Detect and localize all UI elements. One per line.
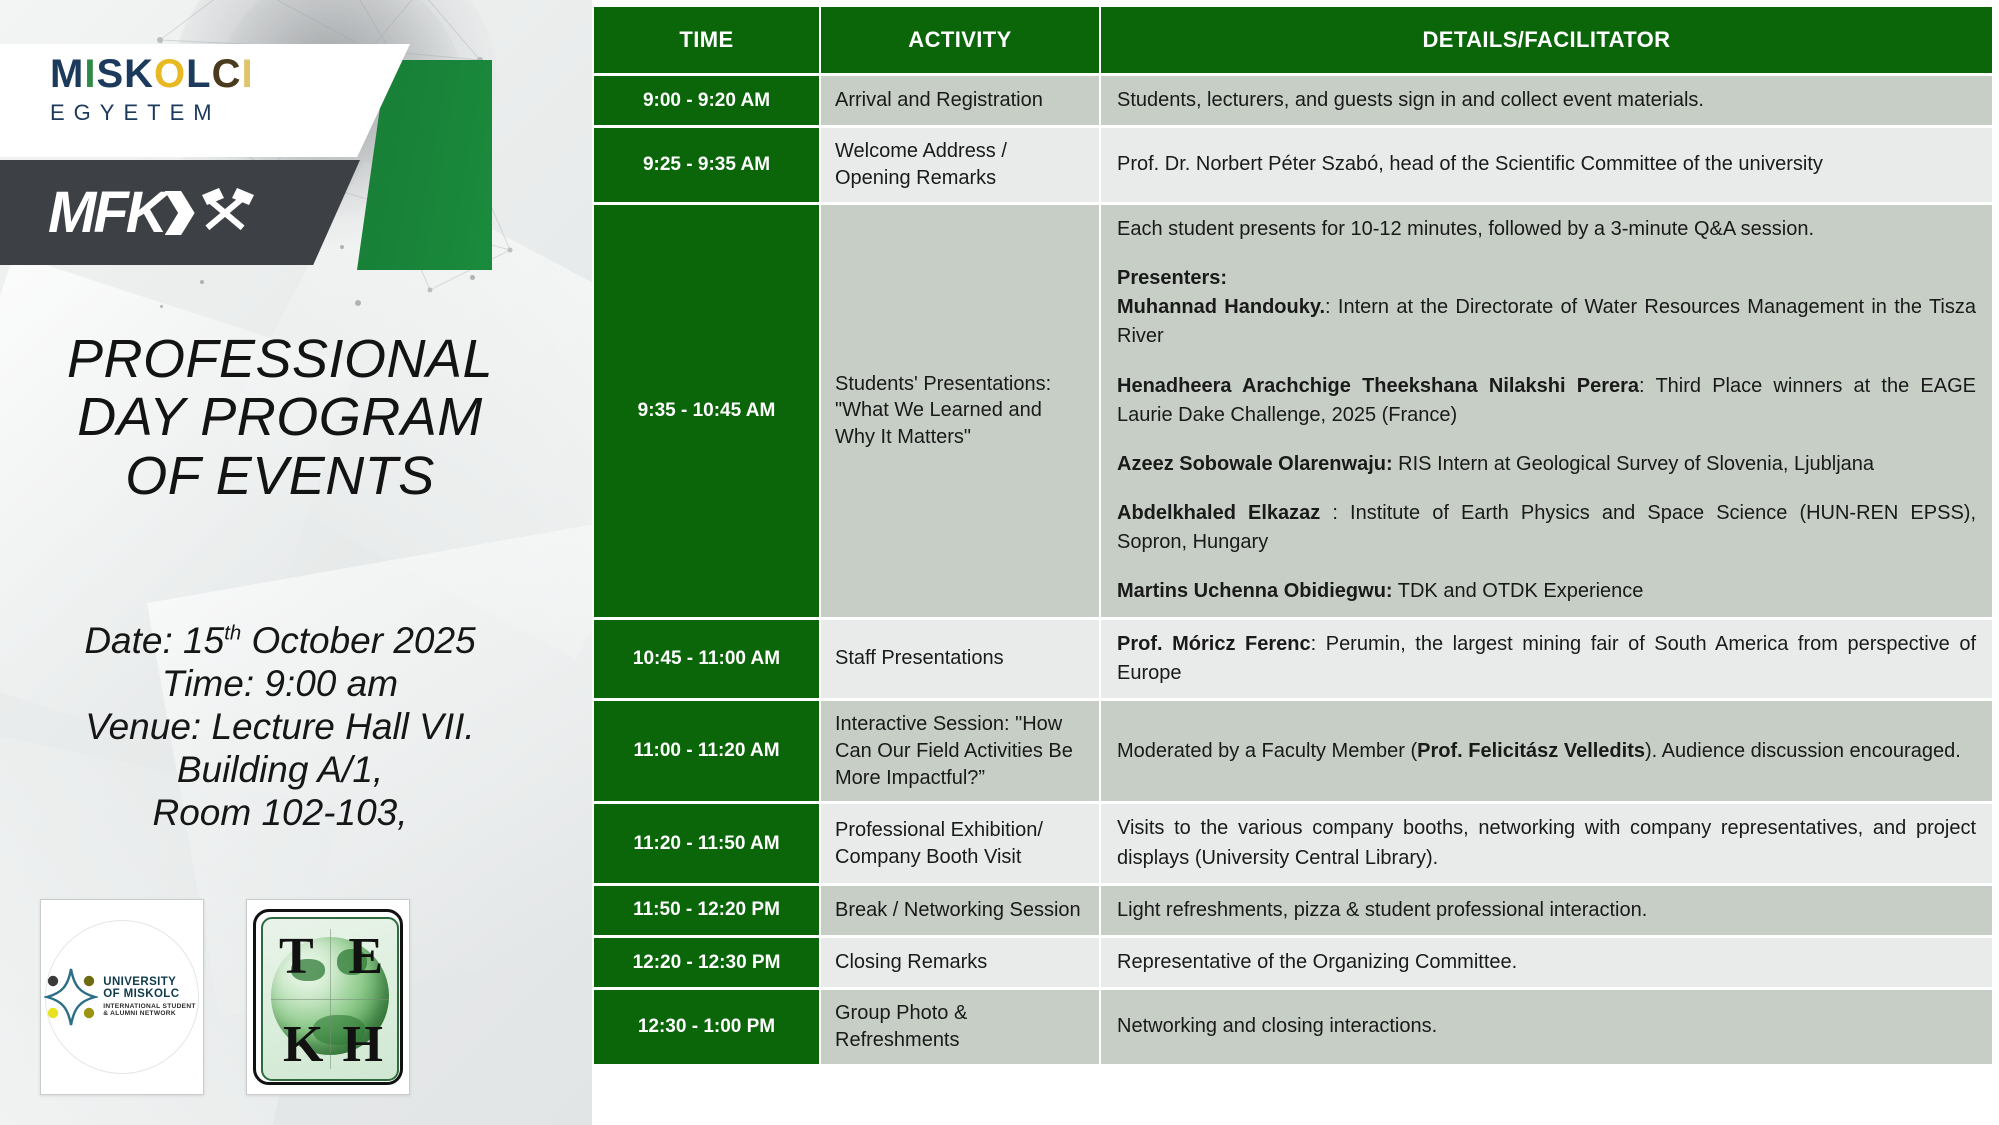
details-bold: Azeez Sobowale Olarenwaju: <box>1117 453 1393 475</box>
table-row: 11:50 - 12:20 PMBreak / Networking Sessi… <box>594 886 1992 935</box>
partner-logos: UNIVERSITY OF MISKOLC INTERNATIONAL STUD… <box>40 899 410 1095</box>
cell-activity: Group Photo & Refreshments <box>821 990 1099 1064</box>
tekh-logo-box: T E K H <box>246 899 410 1095</box>
details-bold: Abdelkhaled Elkazaz <box>1117 502 1320 524</box>
cell-details: Moderated by a Faculty Member (Prof. Fel… <box>1101 701 1992 801</box>
cell-time: 9:00 - 9:20 AM <box>594 76 819 125</box>
event-date: Date: 15th October 2025 <box>0 620 560 663</box>
details-bold: Muhannad Handouky. <box>1117 296 1325 318</box>
table-row: 9:35 - 10:45 AMStudents' Presentations: … <box>594 205 1992 617</box>
cell-activity: Break / Networking Session <box>821 886 1099 935</box>
title-line-3: OF EVENTS <box>0 447 560 505</box>
title-line-2: DAY PROGRAM <box>0 388 560 446</box>
details-paragraph: Visits to the various company booths, ne… <box>1117 814 1976 872</box>
agenda-table-body: 9:00 - 9:20 AMArrival and RegistrationSt… <box>594 76 1992 1064</box>
cell-time: 11:50 - 12:20 PM <box>594 886 819 935</box>
details-bold: Prof. Felicitász Velledits <box>1417 740 1645 762</box>
column-header-details: DETAILS/FACILITATOR <box>1101 7 1992 73</box>
cell-activity: Arrival and Registration <box>821 76 1099 125</box>
cell-activity: Staff Presentations <box>821 620 1099 698</box>
cell-activity: Closing Remarks <box>821 938 1099 987</box>
cell-time: 10:45 - 11:00 AM <box>594 620 819 698</box>
details-bold: Henadheera Arachchige Theekshana Nilaksh… <box>1117 375 1639 397</box>
cell-details: Prof. Móricz Ferenc: Perumin, the larges… <box>1101 620 1992 698</box>
isan-line-1: UNIVERSITY <box>103 976 196 988</box>
tekh-letter-e: E <box>348 931 383 983</box>
isan-line-4: & ALUMNI NETWORK <box>103 1011 196 1018</box>
cell-details: Prof. Dr. Norbert Péter Szabó, head of t… <box>1101 128 1992 202</box>
cell-time: 11:20 - 11:50 AM <box>594 804 819 882</box>
left-panel: MISKOLCI EGYETEM MFK PROFESSIONAL DAY PR… <box>0 0 592 1125</box>
cell-details: Students, lecturers, and guests sign in … <box>1101 76 1992 125</box>
cell-details: Each student presents for 10-12 minutes,… <box>1101 205 1992 617</box>
tekh-letter-h: H <box>343 1019 383 1071</box>
tekh-letters: T E K H <box>263 919 397 1079</box>
details-paragraph: Representative of the Organizing Committ… <box>1117 948 1976 977</box>
cell-time: 12:30 - 1:00 PM <box>594 990 819 1064</box>
cell-time: 9:25 - 9:35 AM <box>594 128 819 202</box>
speck <box>340 245 344 249</box>
university-logo: MISKOLCI EGYETEM <box>50 54 350 126</box>
isan-logo: UNIVERSITY OF MISKOLC INTERNATIONAL STUD… <box>45 920 199 1074</box>
table-row: 11:00 - 11:20 AMInteractive Session: "Ho… <box>594 701 1992 801</box>
event-meta: Date: 15th October 2025 Time: 9:00 am Ve… <box>0 620 560 835</box>
cell-time: 12:20 - 12:30 PM <box>594 938 819 987</box>
title-line-1: PROFESSIONAL <box>0 330 560 388</box>
column-header-time: TIME <box>594 7 819 73</box>
table-header-row: TIME ACTIVITY DETAILS/FACILITATOR <box>594 7 1992 73</box>
details-paragraph: Martins Uchenna Obidiegwu: TDK and OTDK … <box>1117 577 1976 606</box>
event-venue: Venue: Lecture Hall VII. <box>0 706 560 749</box>
tekh-letter-t: T <box>279 931 314 983</box>
cell-details: Networking and closing interactions. <box>1101 990 1992 1064</box>
details-paragraph: Students, lecturers, and guests sign in … <box>1117 86 1976 115</box>
four-point-star-icon <box>44 966 98 1028</box>
table-row: 12:20 - 12:30 PMClosing RemarksRepresent… <box>594 938 1992 987</box>
table-row: 11:20 - 11:50 AMProfessional Exhibition/… <box>594 804 1992 882</box>
university-logo-subtext: EGYETEM <box>50 100 350 126</box>
cell-details: Visits to the various company booths, ne… <box>1101 804 1992 882</box>
tekh-logo: T E K H <box>253 909 403 1085</box>
crossed-hammers-icon <box>199 186 257 240</box>
table-row: 12:30 - 1:00 PMGroup Photo & Refreshment… <box>594 990 1992 1064</box>
speck <box>355 300 361 306</box>
details-bold: Prof. Móricz Ferenc <box>1117 633 1311 655</box>
cell-time: 11:00 - 11:20 AM <box>594 701 819 801</box>
table-row: 10:45 - 11:00 AMStaff PresentationsProf.… <box>594 620 1992 698</box>
details-paragraph: Abdelkhaled Elkazaz : Institute of Earth… <box>1117 499 1976 557</box>
cell-details: Representative of the Organizing Committ… <box>1101 938 1992 987</box>
details-paragraph: Prof. Móricz Ferenc: Perumin, the larges… <box>1117 630 1976 688</box>
details-bold: Martins Uchenna Obidiegwu: <box>1117 580 1393 602</box>
tekh-letter-k: K <box>283 1019 323 1071</box>
details-paragraph: Light refreshments, pizza & student prof… <box>1117 896 1976 925</box>
agenda-table-container: TIME ACTIVITY DETAILS/FACILITATOR 9:00 -… <box>592 0 1999 1125</box>
table-row: 9:00 - 9:20 AMArrival and RegistrationSt… <box>594 76 1992 125</box>
cell-time: 9:35 - 10:45 AM <box>594 205 819 617</box>
cell-activity: Welcome Address / Opening Remarks <box>821 128 1099 202</box>
chevron-icon <box>165 191 195 235</box>
speck <box>200 280 204 284</box>
faculty-logo-wordmark: MFK <box>48 184 165 242</box>
details-paragraph: Each student presents for 10-12 minutes,… <box>1117 215 1976 244</box>
details-paragraph: Muhannad Handouky.: Intern at the Direct… <box>1117 293 1976 351</box>
university-logo-wordmark: MISKOLCI <box>50 54 350 94</box>
details-paragraph: Prof. Dr. Norbert Péter Szabó, head of t… <box>1117 150 1976 179</box>
cell-activity: Students' Presentations: "What We Learne… <box>821 205 1099 617</box>
poster-title: PROFESSIONAL DAY PROGRAM OF EVENTS <box>0 330 560 505</box>
cell-activity: Professional Exhibition/ Company Booth V… <box>821 804 1099 882</box>
details-bold: Presenters: <box>1117 267 1227 289</box>
details-paragraph: Henadheera Arachchige Theekshana Nilaksh… <box>1117 372 1976 430</box>
speck <box>160 305 163 308</box>
event-poster: MISKOLCI EGYETEM MFK PROFESSIONAL DAY PR… <box>0 0 1999 1125</box>
details-paragraph: Networking and closing interactions. <box>1117 1012 1976 1041</box>
faculty-logo: MFK <box>48 175 338 251</box>
speck <box>470 275 475 280</box>
details-paragraph: Presenters: <box>1117 264 1976 293</box>
table-row: 9:25 - 9:35 AMWelcome Address / Opening … <box>594 128 1992 202</box>
event-room: Room 102-103, <box>0 792 560 835</box>
cell-details: Light refreshments, pizza & student prof… <box>1101 886 1992 935</box>
isan-logo-box: UNIVERSITY OF MISKOLC INTERNATIONAL STUD… <box>40 899 204 1095</box>
cell-activity: Interactive Session: "How Can Our Field … <box>821 701 1099 801</box>
details-paragraph: Azeez Sobowale Olarenwaju: RIS Intern at… <box>1117 450 1976 479</box>
agenda-table: TIME ACTIVITY DETAILS/FACILITATOR 9:00 -… <box>592 4 1994 1067</box>
column-header-activity: ACTIVITY <box>821 7 1099 73</box>
details-paragraph: Moderated by a Faculty Member (Prof. Fel… <box>1117 737 1976 766</box>
event-building: Building A/1, <box>0 749 560 792</box>
isan-line-2: OF MISKOLC <box>103 988 196 1000</box>
event-time: Time: 9:00 am <box>0 663 560 706</box>
